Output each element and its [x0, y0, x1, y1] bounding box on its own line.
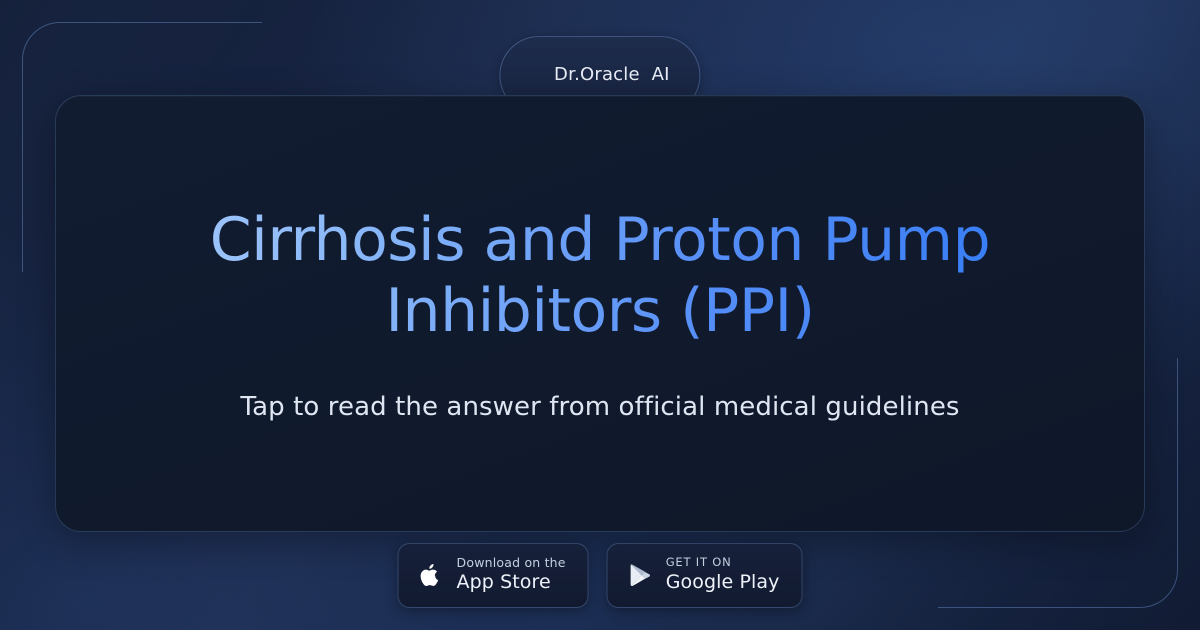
app-store-button[interactable]: Download on the App Store: [398, 543, 589, 608]
app-store-labels: Download on the App Store: [457, 556, 566, 594]
google-play-small-label: GET IT ON: [666, 556, 780, 569]
question-card[interactable]: Cirrhosis and Proton Pump Inhibitors (PP…: [55, 95, 1145, 532]
card-subtitle: Tap to read the answer from official med…: [240, 392, 959, 422]
google-play-labels: GET IT ON Google Play: [666, 556, 780, 593]
store-badges-row: Download on the App Store GET IT ON Goog…: [398, 543, 803, 608]
app-store-small-label: Download on the: [457, 556, 566, 570]
apple-logo-icon: [419, 561, 443, 589]
google-play-icon: [628, 561, 652, 589]
google-play-big-label: Google Play: [666, 572, 780, 594]
google-play-button[interactable]: GET IT ON Google Play: [607, 543, 803, 608]
app-store-big-label: App Store: [457, 572, 566, 594]
brand-name: Dr.Oracle AI: [554, 64, 670, 85]
page-title: Cirrhosis and Proton Pump Inhibitors (PP…: [116, 205, 1084, 351]
promo-card-stage: Dr.Oracle AI Cirrhosis and Proton Pump I…: [0, 0, 1200, 630]
